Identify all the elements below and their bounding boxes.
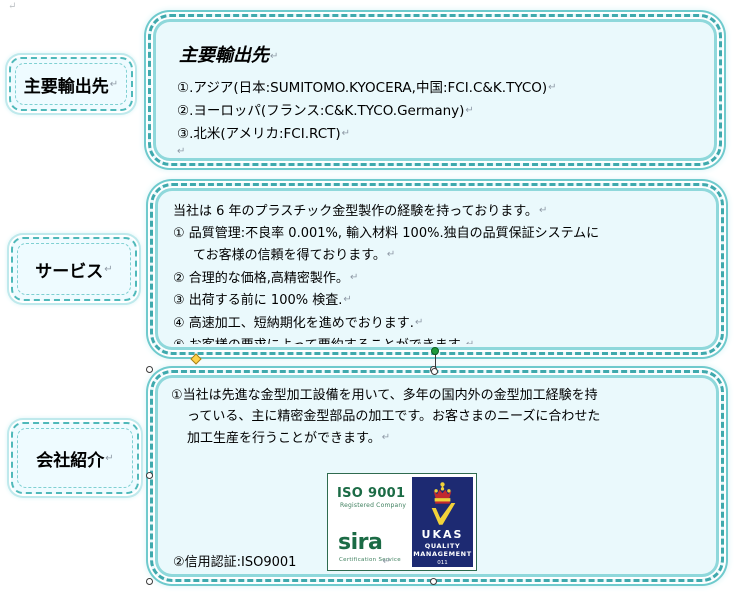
service-item-2: ② 合理的な価格,高精密製作。↵	[173, 267, 709, 290]
label-box-company-profile[interactable]: 会社紹介 ↵	[11, 422, 139, 494]
adjust-handle-yellow-diamond[interactable]	[190, 353, 201, 364]
paragraph-mark-icon: ↵	[382, 556, 390, 567]
company-paragraph-line-3: 加工生産を行うことができます。↵	[171, 427, 709, 449]
company-paragraph-line-3-text: 加工生産を行うことができます。	[187, 431, 381, 446]
resize-handle-bottom-left[interactable]	[146, 578, 153, 585]
certification-caption: ②信用認証:ISO9001↵	[173, 551, 391, 570]
export-line-3-text: ③.北米(アメリカ:FCI.RCT)	[177, 126, 341, 142]
paragraph-mark-icon: ↵	[177, 146, 707, 155]
company-paragraph: ①当社は先進な金型加工設備を用いて、多年の国内外の金型加工経験を持 っている、主…	[171, 385, 709, 449]
content-box-service[interactable]: 当社は 6 年のプラスチック金型製作の経験を持っております。↵ ① 品質管理:不…	[150, 183, 724, 355]
label-box-service[interactable]: サービス ↵	[11, 237, 137, 301]
resize-handle-bottom-center-service[interactable]	[431, 368, 438, 375]
paragraph-mark-icon: ↵	[382, 432, 390, 443]
ukas-panel: UKAS QUALITY MANAGEMENT 011	[412, 477, 473, 567]
export-line-3: ③.北米(アメリカ:FCI.RCT)↵	[177, 123, 707, 145]
heading-text: 主要輸出先	[179, 45, 269, 66]
resize-handle-bottom-center[interactable]	[430, 578, 437, 585]
paragraph-mark-icon: ↵	[342, 128, 350, 139]
service-item-4: ④ 高速加工、短納期化を進めでおります.↵	[173, 312, 709, 335]
service-item-5-marker: ⑤	[173, 338, 185, 344]
content-export-destinations: 主要輸出先↵ ①.アジア(日本:SUMITOMO.KYOCERA,中国:FCI.…	[165, 27, 707, 155]
content-box-export-destinations[interactable]: 主要輸出先↵ ①.アジア(日本:SUMITOMO.KYOCERA,中国:FCI.…	[148, 14, 722, 166]
label-text-export-destinations: 主要輸出先	[24, 72, 109, 97]
ukas-line-quality: QUALITY	[412, 542, 473, 550]
content-box-company-profile[interactable]: ①当社は先進な金型加工設備を用いて、多年の国内外の金型加工経験を持 っている、主…	[150, 370, 724, 582]
ukas-crown-and-tick-icon	[412, 477, 473, 535]
paragraph-mark-icon: ↵	[105, 453, 113, 464]
service-item-2-text: 合理的な価格,高精密製作。	[189, 271, 349, 286]
resize-handle-top-left[interactable]	[146, 366, 153, 373]
service-item-3: ③ 出荷する前に 100% 検査.↵	[173, 289, 709, 312]
service-item-1-continued: てお客様の信頼を得ております。↵	[173, 244, 709, 267]
paragraph-mark-icon: ↵	[466, 339, 474, 344]
ukas-wordmark: UKAS	[412, 528, 473, 541]
rotate-handle[interactable]	[431, 347, 439, 355]
paragraph-mark-icon: ↵	[415, 317, 423, 328]
ukas-accreditation-number: 011	[412, 560, 473, 566]
label-box-export-destinations[interactable]: 主要輸出先 ↵	[9, 57, 133, 111]
paragraph-mark-icon: ↵	[110, 79, 118, 90]
export-line-2-text: ②.ヨーロッパ(フランス:C&K.TYCO.Germany)	[177, 103, 464, 119]
paragraph-mark-icon: ↵	[465, 105, 473, 116]
iso-9001-subtitle: Registered Company	[340, 502, 406, 509]
company-paragraph-line-1: ①当社は先進な金型加工設備を用いて、多年の国内外の金型加工経験を持	[171, 388, 598, 403]
service-intro: 当社は 6 年のプラスチック金型製作の経験を持っております。↵	[173, 200, 709, 223]
paragraph-mark-icon: ↵	[539, 205, 547, 216]
service-item-1-text: 品質管理:不良率 0.001%, 輸入材料 100%.独自の品質保証システムに	[189, 226, 599, 241]
paragraph-mark-icon: ↵	[343, 294, 351, 305]
export-line-1: ①.アジア(日本:SUMITOMO.KYOCERA,中国:FCI.C&K.TYC…	[177, 77, 707, 99]
iso-9001-title: ISO 9001	[337, 486, 405, 501]
service-item-4-text: 高速加工、短納期化を進めでおります.	[189, 316, 414, 331]
service-item-3-marker: ③	[173, 293, 185, 308]
resize-handle-middle-left[interactable]	[146, 472, 153, 479]
ukas-line-management: MANAGEMENT	[412, 550, 473, 558]
stray-paragraph-mark: ↵	[8, 2, 22, 12]
paragraph-mark-icon: ↵	[104, 264, 112, 275]
service-item-5-text: お客様の要求によって要約することができます.	[189, 338, 465, 344]
paragraph-mark-icon: ↵	[548, 82, 556, 93]
certification-caption-text: ②信用認証:ISO9001	[173, 555, 296, 570]
company-paragraph-line-2: っている、主に精密金型部品の加工です。お客さまのニーズに合わせた	[171, 406, 709, 427]
export-line-2: ②.ヨーロッパ(フランス:C&K.TYCO.Germany)↵	[177, 100, 707, 122]
content-service: 当社は 6 年のプラスチック金型製作の経験を持っております。↵ ① 品質管理:不…	[167, 200, 709, 344]
service-item-2-marker: ②	[173, 271, 185, 286]
service-item-1-marker: ①	[173, 226, 185, 241]
service-item-1: ① 品質管理:不良率 0.001%, 輸入材料 100%.独自の品質保証システム…	[173, 223, 709, 245]
label-text-service: サービス	[35, 257, 103, 282]
service-item-5: ⑤ お客様の要求によって要約することができます.↵	[173, 334, 709, 344]
service-item-1-cont-text: てお客様の信頼を得ております。	[193, 248, 386, 263]
service-item-3-text: 出荷する前に 100% 検査.	[189, 293, 343, 308]
export-line-1-text: ①.アジア(日本:SUMITOMO.KYOCERA,中国:FCI.C&K.TYC…	[177, 80, 547, 96]
label-text-company-profile: 会社紹介	[36, 446, 104, 471]
service-intro-text: 当社は 6 年のプラスチック金型製作の経験を持っております。	[173, 204, 538, 219]
paragraph-mark-icon: ↵	[387, 249, 395, 260]
paragraph-mark-icon: ↵	[270, 51, 278, 62]
heading-export-destinations: 主要輸出先↵	[179, 41, 707, 67]
service-item-4-marker: ④	[173, 316, 185, 331]
content-company-profile: ①当社は先進な金型加工設備を用いて、多年の国内外の金型加工経験を持 っている、主…	[167, 385, 709, 571]
paragraph-mark-icon: ↵	[350, 272, 358, 283]
